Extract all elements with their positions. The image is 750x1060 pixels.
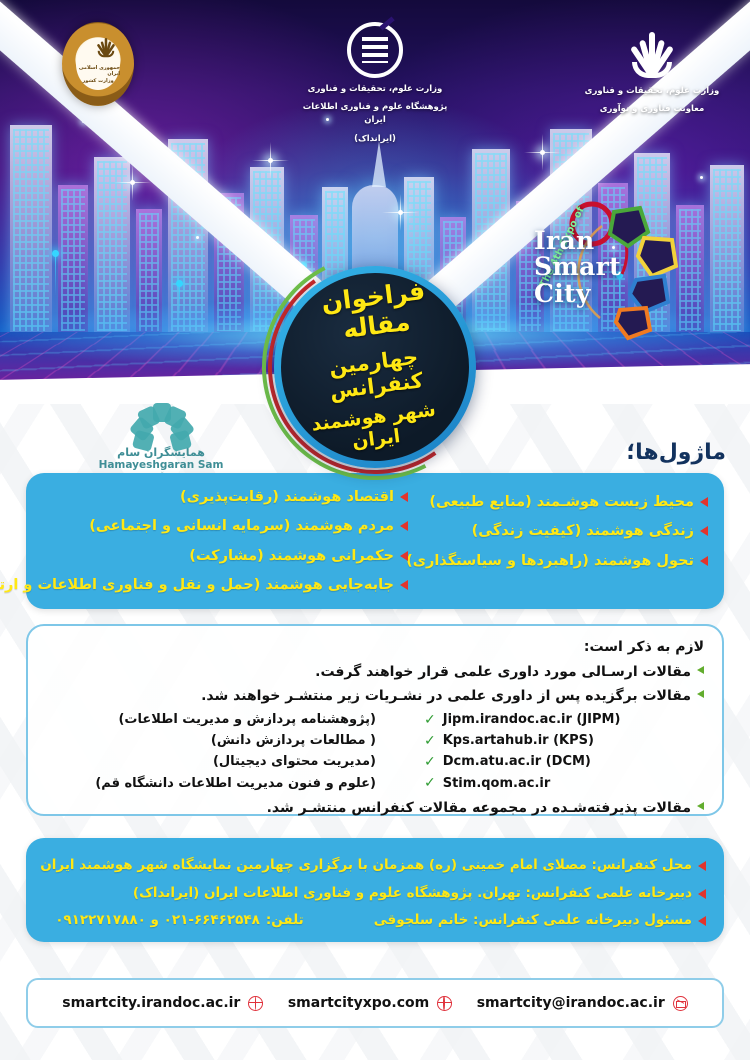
- module-item: حکمرانی هوشمند (مشارکت): [30, 542, 408, 570]
- journal-url-row[interactable]: Kps.artahub.ir (KPS) ✓: [424, 730, 682, 751]
- module-label: جابه‌جایی هوشمند (حمل و نقل و فناوری اطل…: [0, 571, 394, 599]
- modules-panel: محیط زیست هوشـمند (منابع طبیعی) زندگی هو…: [26, 473, 724, 609]
- check-icon: ✓: [424, 776, 436, 790]
- info-secretariat-row: دبیرخانه علمی کنفرانس: تهران. پژوهشگاه ع…: [44, 880, 706, 908]
- journal-url[interactable]: Kps.artahub.ir (KPS): [443, 730, 594, 751]
- module-item: اقتصاد هوشمند (رقابت‌پذیری): [30, 483, 408, 511]
- info-venue: محل کنفرانس: مصلای امام خمینی (ره) همزما…: [40, 852, 692, 880]
- module-item: مردم هوشمند (سرمایه انسانی و اجتماعی): [30, 512, 408, 540]
- check-icon: ✓: [424, 755, 436, 769]
- info-contact-row: مسئول دبیرخانه علمی کنفرانس: خانم سلجوقی…: [44, 907, 706, 935]
- irandoc-caption-1: وزارت علوم، تحقیقات و فناوری: [308, 83, 443, 96]
- journal-url-row[interactable]: Jipm.irandoc.ac.ir (JIPM) ✓: [424, 709, 682, 730]
- footer-contact-bar: smartcity.irandoc.ac.ir smartcityxpo.com…: [26, 978, 724, 1028]
- globe-icon: [248, 996, 263, 1011]
- note-text: مقالات ارسـالی مورد داوری علمی قرار خواه…: [315, 660, 691, 684]
- contact-text[interactable]: smartcity.irandoc.ac.ir: [62, 995, 240, 1011]
- light-flare: [540, 150, 545, 155]
- poster-root: جمهوری اسلامی ایران وزارت کشور وزارت علو…: [0, 0, 750, 1060]
- journal-list: Jipm.irandoc.ac.ir (JIPM) ✓ Kps.artahub.…: [46, 709, 704, 794]
- light-flare: [268, 158, 273, 163]
- journal-url[interactable]: Jipm.irandoc.ac.ir (JIPM): [443, 709, 621, 730]
- note-item: مقالات ارسـالی مورد داوری علمی قرار خواه…: [46, 660, 704, 684]
- module-label: تحول هوشمند (راهبردها و سیاستگذاری): [406, 547, 694, 575]
- info-venue-row: محل کنفرانس: مصلای امام خمینی (ره) همزما…: [44, 852, 706, 880]
- contact-website-expo[interactable]: smartcityxpo.com: [288, 995, 452, 1011]
- journal-url[interactable]: Dcm.atu.ac.ir (DCM): [443, 751, 591, 772]
- bullet-arrow-icon: [400, 580, 408, 590]
- expo-line-3: City: [534, 281, 621, 307]
- organizer-name-fa: همایشگران سام: [86, 446, 236, 459]
- network-node: [176, 280, 183, 287]
- modules-heading: ماژول‌ها؛: [626, 440, 726, 465]
- journal-name: ( مطالعات پردازش دانش): [46, 730, 376, 751]
- note-item: مقالات برگزیده پس از داوری علمی در نشـری…: [46, 684, 704, 708]
- module-item: تحول هوشمند (راهبردها و سیاستگذاری): [408, 547, 708, 575]
- light-flare: [196, 236, 199, 239]
- seal-caption-2: وزارت کشور: [82, 78, 113, 84]
- notes-title: لازم به ذکر است:: [46, 636, 704, 660]
- module-label: محیط زیست هوشـمند (منابع طبیعی): [429, 488, 694, 516]
- journal-name: (علوم و فنون مدیریت اطلاعات دانشگاه قم): [46, 773, 376, 794]
- bullet-arrow-icon: [400, 551, 408, 561]
- journal-url-row[interactable]: Stim.qom.ac.ir ✓: [424, 773, 682, 794]
- logo-irandoc: وزارت علوم، تحقیقات و فناوری پژوهشگاه عل…: [293, 22, 458, 146]
- journal-names: (پژوهشنامه پردازش و مدیریت اطلاعات) ( مط…: [46, 709, 376, 794]
- light-flare: [398, 210, 403, 215]
- mail-icon: [673, 996, 688, 1011]
- logo-ministry-of-science: وزارت علوم، تحقیقات و فناوری معاونت فناو…: [570, 22, 735, 116]
- journal-url[interactable]: Stim.qom.ac.ir: [443, 773, 551, 794]
- note-text: مقالات پذیرفته‌شـده در مجموعه مقالات کنف…: [267, 796, 691, 820]
- mos-caption-1: وزارت علوم، تحقیقات و فناوری: [585, 85, 720, 98]
- logo-ministry-of-interior: جمهوری اسلامی ایران وزارت کشور: [16, 22, 181, 106]
- light-flare: [700, 176, 703, 179]
- iran-smart-city-logo: The 4th Expo of Iran Smart City: [522, 196, 712, 341]
- journal-url-row[interactable]: Dcm.atu.ac.ir (DCM) ✓: [424, 751, 682, 772]
- organizer-name-en: Hamayeshgaran Sam: [86, 459, 236, 471]
- note-item-closing: مقالات پذیرفته‌شـده در مجموعه مقالات کنف…: [46, 796, 704, 820]
- hamayeshgaran-flower-icon: [125, 392, 197, 444]
- irandoc-caption-3: (ایرانداک): [354, 133, 396, 146]
- organizer-logo-hamayeshgaran-sam: همایشگران سام Hamayeshgaran Sam مرکز شتا…: [86, 392, 236, 480]
- journal-name: (مدیریت محتوای دیجیتال): [46, 751, 376, 772]
- mos-caption-2: معاونت فناوری و نوآوری: [600, 103, 704, 116]
- module-item: جابه‌جایی هوشمند (حمل و نقل و فناوری اطل…: [30, 571, 408, 599]
- bullet-arrow-icon: [697, 802, 704, 810]
- irandoc-mark-icon: [347, 22, 403, 78]
- globe-icon: [437, 996, 452, 1011]
- check-icon: ✓: [424, 734, 436, 748]
- ministry-of-interior-seal-icon: جمهوری اسلامی ایران وزارت کشور: [62, 22, 134, 106]
- contact-email[interactable]: smartcity@irandoc.ac.ir: [477, 995, 688, 1011]
- contact-text[interactable]: smartcityxpo.com: [288, 995, 429, 1011]
- expo-line-2: Smart: [534, 254, 621, 280]
- journal-name: (پژوهشنامه پردازش و مدیریت اطلاعات): [46, 709, 376, 730]
- bullet-arrow-icon: [697, 690, 704, 698]
- light-flare: [130, 180, 135, 185]
- module-item: زندگی هوشمند (کیفیت زندگی): [408, 517, 708, 545]
- contact-text[interactable]: smartcity@irandoc.ac.ir: [477, 995, 665, 1011]
- module-label: مردم هوشمند (سرمایه انسانی و اجتماعی): [89, 512, 394, 540]
- bullet-arrow-icon: [700, 497, 708, 507]
- module-label: حکمرانی هوشمند (مشارکت): [189, 542, 394, 570]
- tower-spire: [372, 141, 386, 187]
- info-contact-person: مسئول دبیرخانه علمی کنفرانس: خانم سلجوقی: [374, 907, 692, 935]
- badge-line-2: چهارمین کنفرانس: [289, 340, 462, 408]
- bullet-arrow-icon: [400, 492, 408, 502]
- conference-info-panel: محل کنفرانس: مصلای امام خمینی (ره) همزما…: [26, 838, 724, 942]
- bullet-arrow-icon: [700, 556, 708, 566]
- expo-logo-text: Iran Smart City: [534, 228, 621, 307]
- check-icon: ✓: [424, 713, 436, 727]
- sponsor-logo-row: جمهوری اسلامی ایران وزارت کشور وزارت علو…: [0, 22, 750, 137]
- note-text: مقالات برگزیده پس از داوری علمی در نشـری…: [201, 684, 691, 708]
- expo-line-1: Iran: [534, 228, 621, 254]
- journal-urls: Jipm.irandoc.ac.ir (JIPM) ✓ Kps.artahub.…: [424, 709, 704, 794]
- module-label: زندگی هوشمند (کیفیت زندگی): [472, 517, 694, 545]
- phone-label: تلفن:: [266, 907, 304, 935]
- irandoc-caption-2: پژوهشگاه علوم و فناوری اطلاعات ایران: [293, 101, 458, 127]
- phone-numbers: ۰۲۱-۶۶۴۶۲۵۴۸ و ۰۹۱۲۲۷۱۷۸۸۰: [55, 907, 260, 935]
- bullet-arrow-icon: [700, 526, 708, 536]
- call-for-papers-badge: فراخوان مقاله چهارمین کنفرانس شهر هوشمند…: [270, 262, 480, 472]
- modules-right-column: اقتصاد هوشمند (رقابت‌پذیری) مردم هوشمند …: [30, 483, 408, 601]
- notes-panel: لازم به ذکر است: مقالات ارسـالی مورد داو…: [26, 624, 724, 816]
- bullet-arrow-icon: [697, 666, 704, 674]
- seal-caption-1: جمهوری اسلامی ایران: [76, 65, 120, 77]
- network-node: [52, 250, 59, 257]
- iran-emblem-icon: [623, 22, 681, 80]
- bullet-arrow-icon: [400, 521, 408, 531]
- bullet-arrow-icon: [698, 916, 706, 926]
- bullet-arrow-icon: [698, 861, 706, 871]
- badge-core: فراخوان مقاله چهارمین کنفرانس شهر هوشمند…: [281, 273, 469, 461]
- modules-left-column: محیط زیست هوشـمند (منابع طبیعی) زندگی هو…: [408, 483, 708, 601]
- contact-website-primary[interactable]: smartcity.irandoc.ac.ir: [62, 995, 263, 1011]
- bullet-arrow-icon: [698, 889, 706, 899]
- module-item: محیط زیست هوشـمند (منابع طبیعی): [408, 488, 708, 516]
- info-secretariat: دبیرخانه علمی کنفرانس: تهران. پژوهشگاه ع…: [133, 880, 692, 908]
- module-label: اقتصاد هوشمند (رقابت‌پذیری): [180, 483, 394, 511]
